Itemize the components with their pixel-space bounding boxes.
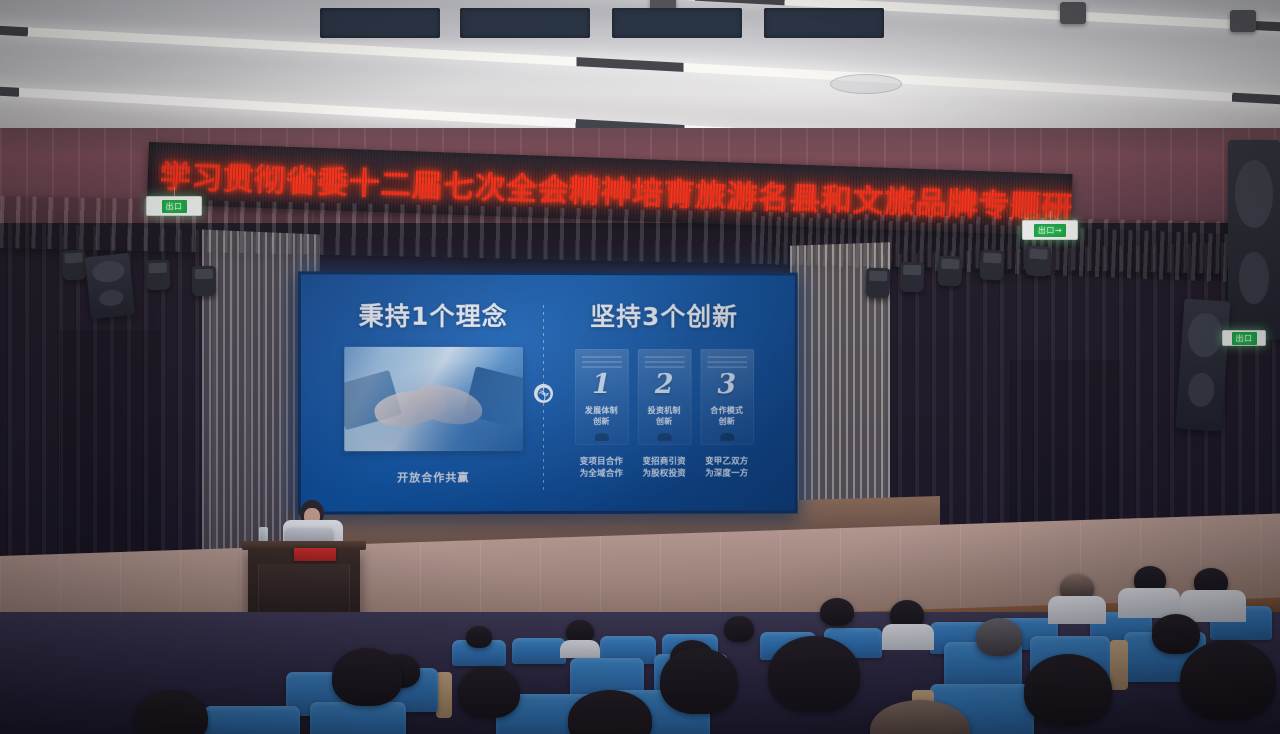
attendee-head [724,616,754,642]
card-label: 合作模式创新 [710,406,743,428]
card-caption: 变甲乙双方为深度一方 [700,457,754,481]
exit-sign-far-right: 出口 [1222,330,1266,346]
slide-left-half: 秉持1个理念 开放合作共赢 [317,297,549,500]
attendee-head [976,618,1022,656]
stage-light [899,262,924,293]
loudspeaker-left [85,253,135,319]
innovation-captions: 变项目合作为全域合作 变招商引资为股权投资 变甲乙双方为深度一方 [574,457,753,481]
attendee-head [466,626,492,648]
ceiling-spotlight [1060,2,1086,24]
slide-left-heading: 秉持1个理念 [359,297,508,333]
back-wall-panel [460,8,590,38]
card-label: 发展体制创新 [585,406,618,428]
seat-armrest [1110,640,1128,690]
attendee-head [820,598,854,626]
attendee-head [1152,614,1200,654]
stage-light [937,255,963,286]
slide-left-caption: 开放合作共赢 [397,469,469,485]
slide-right-heading: 坚持3个创新 [590,297,738,333]
seat[interactable] [310,702,406,734]
card-caption: 变招商引资为股权投资 [637,457,691,481]
globe-icon [534,384,553,403]
photo-glare [344,347,523,451]
exit-sign-label: 出口→ [1034,224,1066,237]
innovation-card: 1 发展体制创新 [574,349,628,445]
exit-sign-right: 出口→ [1022,220,1078,240]
card-label: 投资机制创新 [648,406,681,428]
back-wall-panel [764,8,884,38]
stage-light [61,249,87,281]
attendee-shirt [1048,596,1106,624]
attendee-head-foreground [660,648,738,714]
auditorium-scene: 学习贯彻省委十二届七次全会精神培育旅游名县和文旅品牌专题研讨班 出口 出口→ 出… [0,0,1280,734]
exit-sign-label: 出口 [162,200,187,213]
card-line-decor [644,356,684,370]
back-wall-panel [612,8,742,38]
seat[interactable] [512,638,566,664]
card-number: 1 [592,371,611,398]
seat-armrest [436,672,452,718]
slide-right-half: 坚持3个创新 1 发展体制创新 2 投资机制创新 [549,297,779,499]
loudspeaker-right [1228,140,1280,340]
handshake-photo [344,347,523,451]
stage-light [192,266,217,296]
ceiling-vent [830,74,902,94]
attendee-shirt [882,624,934,650]
stage-light [1025,245,1051,277]
card-caption: 变项目合作为全域合作 [574,457,628,481]
attendee-head-foreground [768,636,860,712]
innovation-card: 3 合作模式创新 [700,349,754,445]
innovation-card: 2 投资机制创新 [637,349,691,445]
exit-sign-label: 出口 [1232,332,1257,345]
card-number: 3 [717,371,736,398]
exit-sign-left: 出口 [146,196,202,216]
seat[interactable] [204,706,300,734]
podium-nameplate [294,548,336,561]
stage-light [979,249,1005,280]
attendee-head-foreground [332,648,402,706]
attendee-shirt [560,640,600,658]
innovation-cards: 1 发展体制创新 2 投资机制创新 3 合作模式创新 [574,349,753,445]
ceiling-spotlight [1230,10,1256,32]
presentation-slide: 秉持1个理念 开放合作共赢 坚持3个创新 [301,274,795,511]
loudspeaker-right-lower [1176,299,1231,432]
attendee-head-foreground [1180,640,1276,720]
stage-light [145,260,170,291]
attendee-head-foreground [458,666,520,718]
card-line-decor [707,356,747,370]
back-wall-panel [320,8,440,38]
stage-light [865,268,890,299]
attendee-head-foreground [1024,654,1112,726]
card-number: 2 [655,371,674,398]
card-line-decor [581,356,621,370]
projection-screen: 秉持1个理念 开放合作共赢 坚持3个创新 [301,274,795,511]
projection-screen-frame: 秉持1个理念 开放合作共赢 坚持3个创新 [298,271,798,514]
